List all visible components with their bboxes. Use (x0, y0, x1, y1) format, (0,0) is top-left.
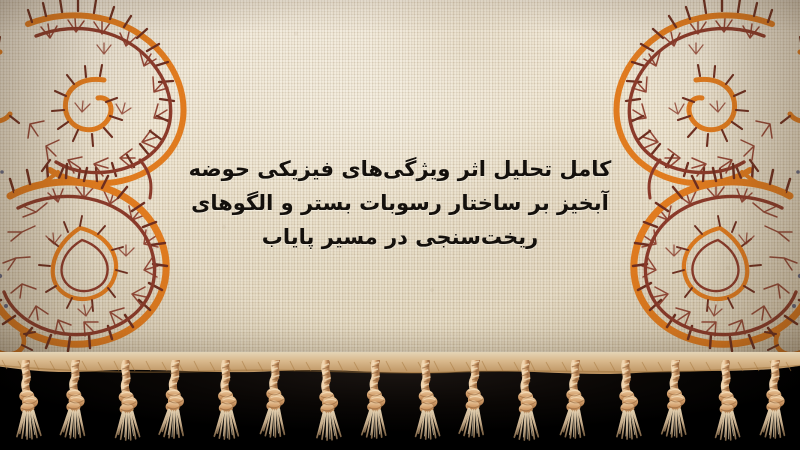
title-line-2: آبخیز بر ساختار رسوبات بستر و الگوهای (0, 186, 800, 220)
slide-canvas: کامل تحلیل اثر ویژگی‌های فیزیکی حوضه آبخ… (0, 0, 800, 450)
black-backdrop (0, 364, 800, 450)
title-line-1: کامل تحلیل اثر ویژگی‌های فیزیکی حوضه (0, 152, 800, 186)
title-line-3: ریخت‌سنجی در مسیر پایاب (0, 220, 800, 254)
slide-title: کامل تحلیل اثر ویژگی‌های فیزیکی حوضه آبخ… (0, 152, 800, 254)
